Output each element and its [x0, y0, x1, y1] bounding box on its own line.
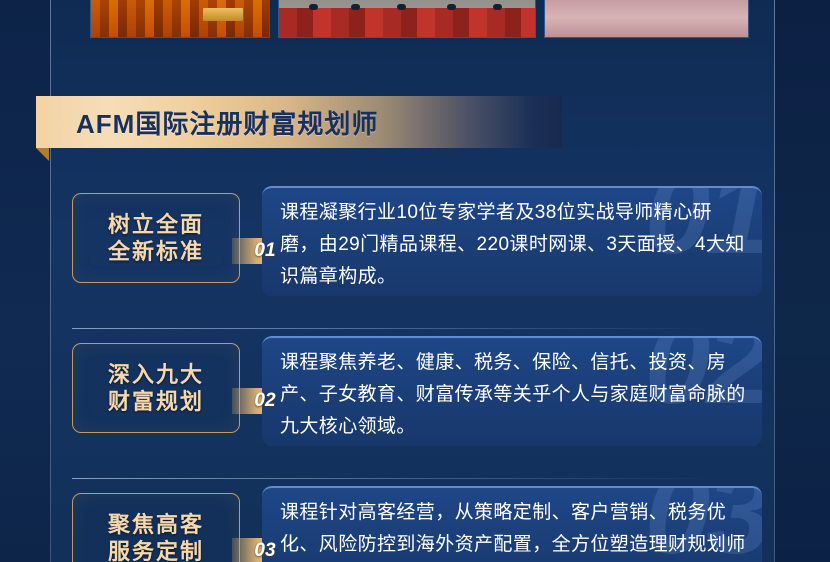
- feature-label-box: 深入九大 财富规划: [72, 343, 240, 433]
- feature-description: 课程聚焦养老、健康、税务、保险、信托、投资、房产、子女教育、财富传承等关乎个人与…: [262, 338, 762, 443]
- feature-label-line: 聚焦高客: [108, 511, 204, 539]
- feature-label-line: 树立全面: [108, 211, 204, 239]
- photo-strip: [90, 0, 775, 38]
- feature-label-line: 服务定制: [108, 538, 204, 562]
- feature-row: 聚焦高客 服务定制 03 03 课程针对高客经营，从策略定制、客户营销、税务优化…: [0, 478, 830, 562]
- section-heading-ribbon: AFM国际注册财富规划师: [36, 96, 562, 148]
- feature-description-panel: 01 课程凝聚行业10位专家学者及38位实战导师精心研磨，由29门精品课程、22…: [262, 186, 762, 296]
- feature-label-line: 全新标准: [108, 238, 204, 266]
- promotional-page: AFM国际注册财富规划师 树立全面 全新标准 01 01 课程凝聚行业10位专家…: [0, 0, 830, 562]
- ribbon-fold-corner: [36, 148, 49, 161]
- group-photo-black-gowns: [544, 0, 749, 38]
- feature-description-panel: 03 课程针对高客经营，从策略定制、客户营销、税务优化、风险防控到海外资产配置，…: [262, 486, 762, 562]
- feature-description: 课程针对高客经营，从策略定制、客户营销、税务优化、风险防控到海外资产配置，全方位…: [262, 488, 762, 562]
- group-photo-parquet-hall: [90, 0, 270, 38]
- group-photo-blue-gowns: [278, 0, 536, 38]
- feature-row: 深入九大 财富规划 02 02 课程聚焦养老、健康、税务、保险、信托、投资、房产…: [0, 328, 830, 478]
- feature-list: 树立全面 全新标准 01 01 课程凝聚行业10位专家学者及38位实战导师精心研…: [0, 178, 830, 562]
- feature-label-line: 财富规划: [108, 388, 204, 416]
- feature-description: 课程凝聚行业10位专家学者及38位实战导师精心研磨，由29门精品课程、220课时…: [262, 188, 762, 293]
- row-separator: [72, 328, 712, 329]
- feature-label-box: 聚焦高客 服务定制: [72, 493, 240, 562]
- page-title: AFM国际注册财富规划师: [76, 104, 378, 141]
- feature-description-panel: 02 课程聚焦养老、健康、税务、保险、信托、投资、房产、子女教育、财富传承等关乎…: [262, 336, 762, 446]
- feature-label-line: 深入九大: [108, 361, 204, 389]
- feature-row: 树立全面 全新标准 01 01 课程凝聚行业10位专家学者及38位实战导师精心研…: [0, 178, 830, 328]
- feature-label-box: 树立全面 全新标准: [72, 193, 240, 283]
- row-separator: [72, 478, 712, 479]
- ribbon-bar: AFM国际注册财富规划师: [36, 96, 562, 148]
